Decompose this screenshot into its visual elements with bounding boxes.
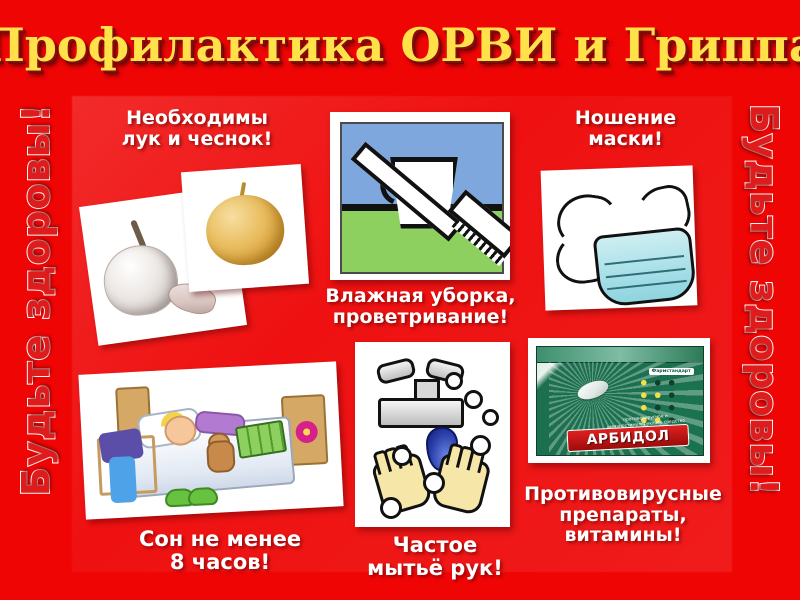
medicine-box-card: Фармстандарт противовирусное и иммуности… — [528, 338, 710, 463]
mask-pleat-3 — [606, 280, 687, 290]
soap-bubble-icon — [464, 390, 483, 409]
tip-caption-hand-washing: Частое мытьё рук! — [360, 534, 510, 579]
tip-caption-garlic-onion: Необходимы лук и чеснок! — [92, 108, 302, 149]
clothes-pants-icon — [109, 456, 137, 503]
mask-pleat-2 — [605, 269, 686, 279]
slipper-right-icon — [188, 487, 219, 507]
page-title: Профилактика ОРВИ и Гриппа — [0, 18, 800, 72]
teddy-bear-icon — [206, 439, 236, 472]
onion-icon — [204, 193, 287, 268]
soap-bubble-icon — [482, 409, 499, 426]
slogan-right: Будьте здоровы! — [732, 0, 796, 600]
mask-pleat-1 — [604, 255, 685, 265]
slogan-right-text: Будьте здоровы! — [742, 104, 786, 496]
soap-bubble-icon — [423, 472, 445, 494]
poster-title-bar: Профилактика ОРВИ и Гриппа — [0, 10, 800, 80]
slogan-left-text: Будьте здоровы! — [14, 104, 58, 496]
manufacturer-logo: Фармстандарт — [649, 368, 694, 375]
sleeping-child-card — [78, 361, 343, 519]
tap-handle-left-icon — [375, 356, 417, 385]
soap-bubble-icon — [392, 446, 412, 466]
poster-canvas: Профилактика ОРВИ и Гриппа Будьте здоров… — [0, 0, 800, 600]
medicine-box-front-face: Фармстандарт противовирусное и иммуности… — [549, 362, 703, 455]
hand-washing-card — [355, 342, 510, 527]
tip-caption-sleep: Сон не менее 8 часов! — [100, 528, 340, 573]
tip-caption-antiviral: Противовирусные препараты, витамины! — [516, 484, 730, 546]
mask-icon — [592, 227, 697, 309]
onion-photo-card — [181, 164, 309, 292]
wet-cleaning-icon-card — [330, 112, 510, 280]
medicine-box-top-face — [537, 347, 703, 363]
soap-bubble-icon — [470, 435, 491, 456]
garlic-icon — [99, 241, 182, 321]
faucet-icon — [378, 398, 464, 428]
tip-caption-wet-cleaning: Влажная уборка, проветривание! — [318, 286, 523, 327]
arbidol-box: Фармстандарт противовирусное и иммуности… — [536, 346, 704, 456]
tip-caption-wear-mask: Ношение маски! — [548, 108, 703, 149]
mask-illustration-card — [541, 165, 698, 310]
soap-bubble-icon — [380, 497, 402, 519]
cleaning-icon-frame — [340, 122, 504, 274]
soap-bubble-icon — [445, 372, 463, 390]
slogan-left: Будьте здоровы! — [4, 0, 68, 600]
